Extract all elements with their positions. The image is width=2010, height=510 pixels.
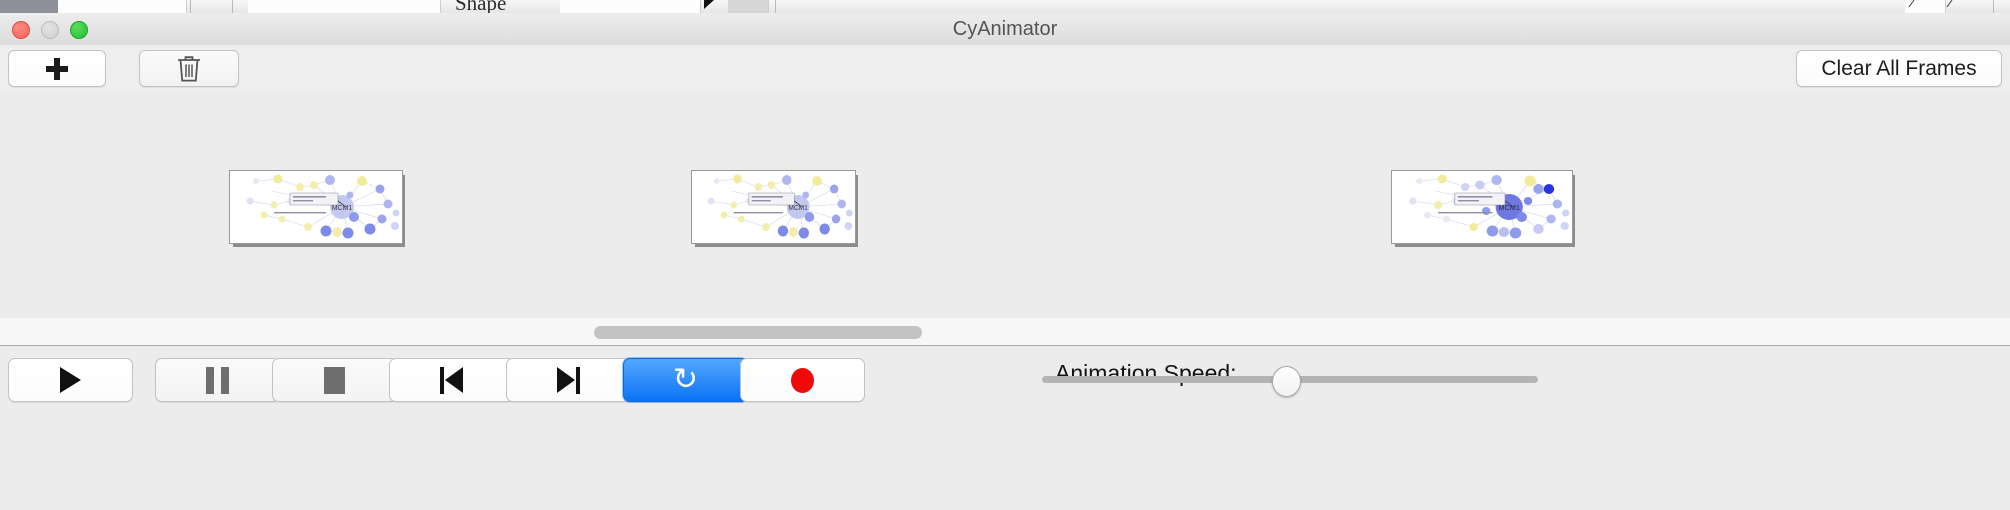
scrollbar-track[interactable] bbox=[0, 322, 2010, 341]
thumbnail-canvas: MCM1 bbox=[229, 170, 403, 244]
scrollbar-thumb[interactable] bbox=[594, 326, 922, 339]
pause-icon bbox=[206, 367, 229, 394]
slider-thumb[interactable] bbox=[1272, 366, 1301, 397]
timeline-scrollbar[interactable] bbox=[0, 318, 2010, 346]
keyframe-thumbnail-3[interactable]: MCM1 bbox=[1391, 170, 1571, 242]
play-icon bbox=[60, 367, 81, 393]
background-window-label: Shape bbox=[455, 0, 506, 13]
loop-icon: ↻ bbox=[673, 365, 698, 395]
animation-speed-slider[interactable] bbox=[1042, 366, 1538, 395]
svg-text:MCM1: MCM1 bbox=[332, 205, 353, 212]
network-graph: MCM1 bbox=[692, 171, 855, 243]
keyframe-thumbnail-2[interactable]: MCM1 bbox=[691, 170, 854, 242]
close-button[interactable] bbox=[12, 21, 30, 39]
thumbnail-canvas: MCM1 bbox=[691, 170, 856, 244]
play-button[interactable] bbox=[8, 358, 133, 402]
title-bar: CyAnimator bbox=[0, 13, 2010, 46]
traffic-lights bbox=[12, 21, 88, 39]
delete-frame-button[interactable] bbox=[139, 50, 239, 87]
minimize-button[interactable] bbox=[41, 21, 59, 39]
skip-forward-icon bbox=[557, 367, 580, 394]
skip-back-icon bbox=[440, 367, 463, 394]
stop-icon bbox=[324, 367, 345, 394]
skip-to-end-button[interactable] bbox=[506, 358, 631, 402]
window-title: CyAnimator bbox=[0, 13, 2010, 45]
record-button[interactable] bbox=[740, 358, 865, 402]
playback-toolbar: ↻ Animation Speed: bbox=[0, 346, 2010, 510]
loop-button[interactable]: ↻ bbox=[623, 358, 748, 402]
pause-button[interactable] bbox=[155, 358, 280, 402]
skip-to-start-button[interactable] bbox=[389, 358, 514, 402]
svg-text:MCM1: MCM1 bbox=[788, 205, 808, 212]
keyframe-thumbnail-1[interactable]: MCM1 bbox=[229, 170, 401, 242]
network-graph: MCM1 bbox=[230, 171, 402, 243]
timeline-panel[interactable]: MCM1 bbox=[0, 90, 2010, 319]
network-graph: MCM1 bbox=[1392, 171, 1572, 243]
background-window-strip: Shape ⁄ ⁄ bbox=[0, 0, 2010, 13]
zoom-button[interactable] bbox=[70, 21, 88, 39]
add-frame-button[interactable] bbox=[8, 50, 106, 87]
thumbnail-canvas: MCM1 bbox=[1391, 170, 1573, 244]
plus-icon bbox=[46, 58, 68, 80]
stop-button[interactable] bbox=[272, 358, 397, 402]
clear-all-frames-label: Clear All Frames bbox=[1821, 57, 1976, 81]
cyanimator-window: Shape ⁄ ⁄ CyAnimator bbox=[0, 0, 2010, 510]
svg-text:MCM1: MCM1 bbox=[1498, 204, 1520, 212]
record-icon bbox=[791, 368, 814, 393]
clear-all-frames-button[interactable]: Clear All Frames bbox=[1796, 50, 2002, 87]
trash-icon bbox=[176, 54, 202, 84]
toolbar: Clear All Frames bbox=[0, 45, 2010, 91]
